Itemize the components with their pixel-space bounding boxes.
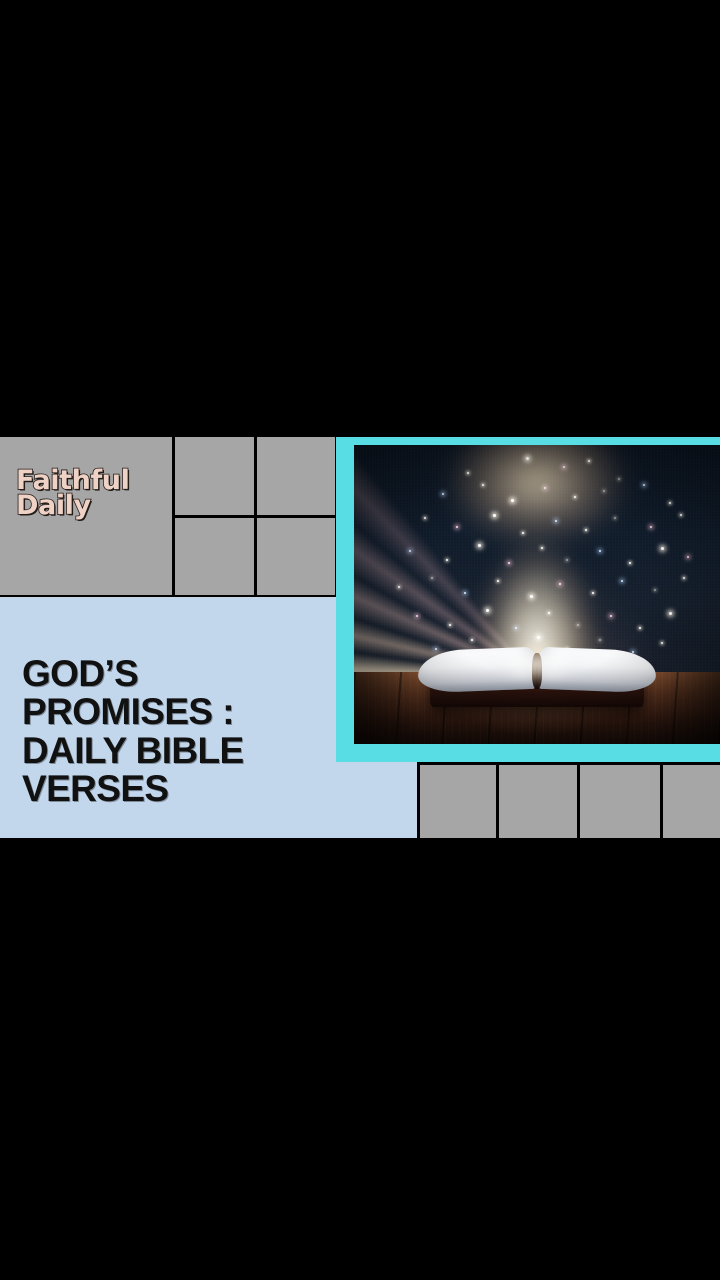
strip-tile-2 [499,765,577,838]
photo-frame [336,437,720,762]
tile-top-mid [175,437,254,515]
strip-tile-1 [420,765,496,838]
content-band: Faithful Daily GOD’S PROMISES : DAILY BI… [0,437,720,838]
photo-vignette [354,445,720,744]
strip-tile-3 [580,765,660,838]
strip-tile-4 [663,765,720,838]
bible-light-photo [354,445,720,744]
headline-line-3: DAILY BIBLE [22,732,352,770]
video-thumbnail-screen: Faithful Daily GOD’S PROMISES : DAILY BI… [0,0,720,1280]
headline-line-4: VERSES [22,770,352,808]
headline-line-1: GOD’S [22,655,352,693]
tile-mid-mid [175,518,254,595]
page-title: GOD’S PROMISES : DAILY BIBLE VERSES [22,655,352,809]
tile-top-right [257,437,335,515]
brand-line-2: Daily [16,493,166,518]
tile-mid-right [257,518,335,595]
photo-scene [354,445,720,744]
headline-line-2: PROMISES : [22,693,352,731]
brand-wordmark: Faithful Daily [16,468,166,519]
